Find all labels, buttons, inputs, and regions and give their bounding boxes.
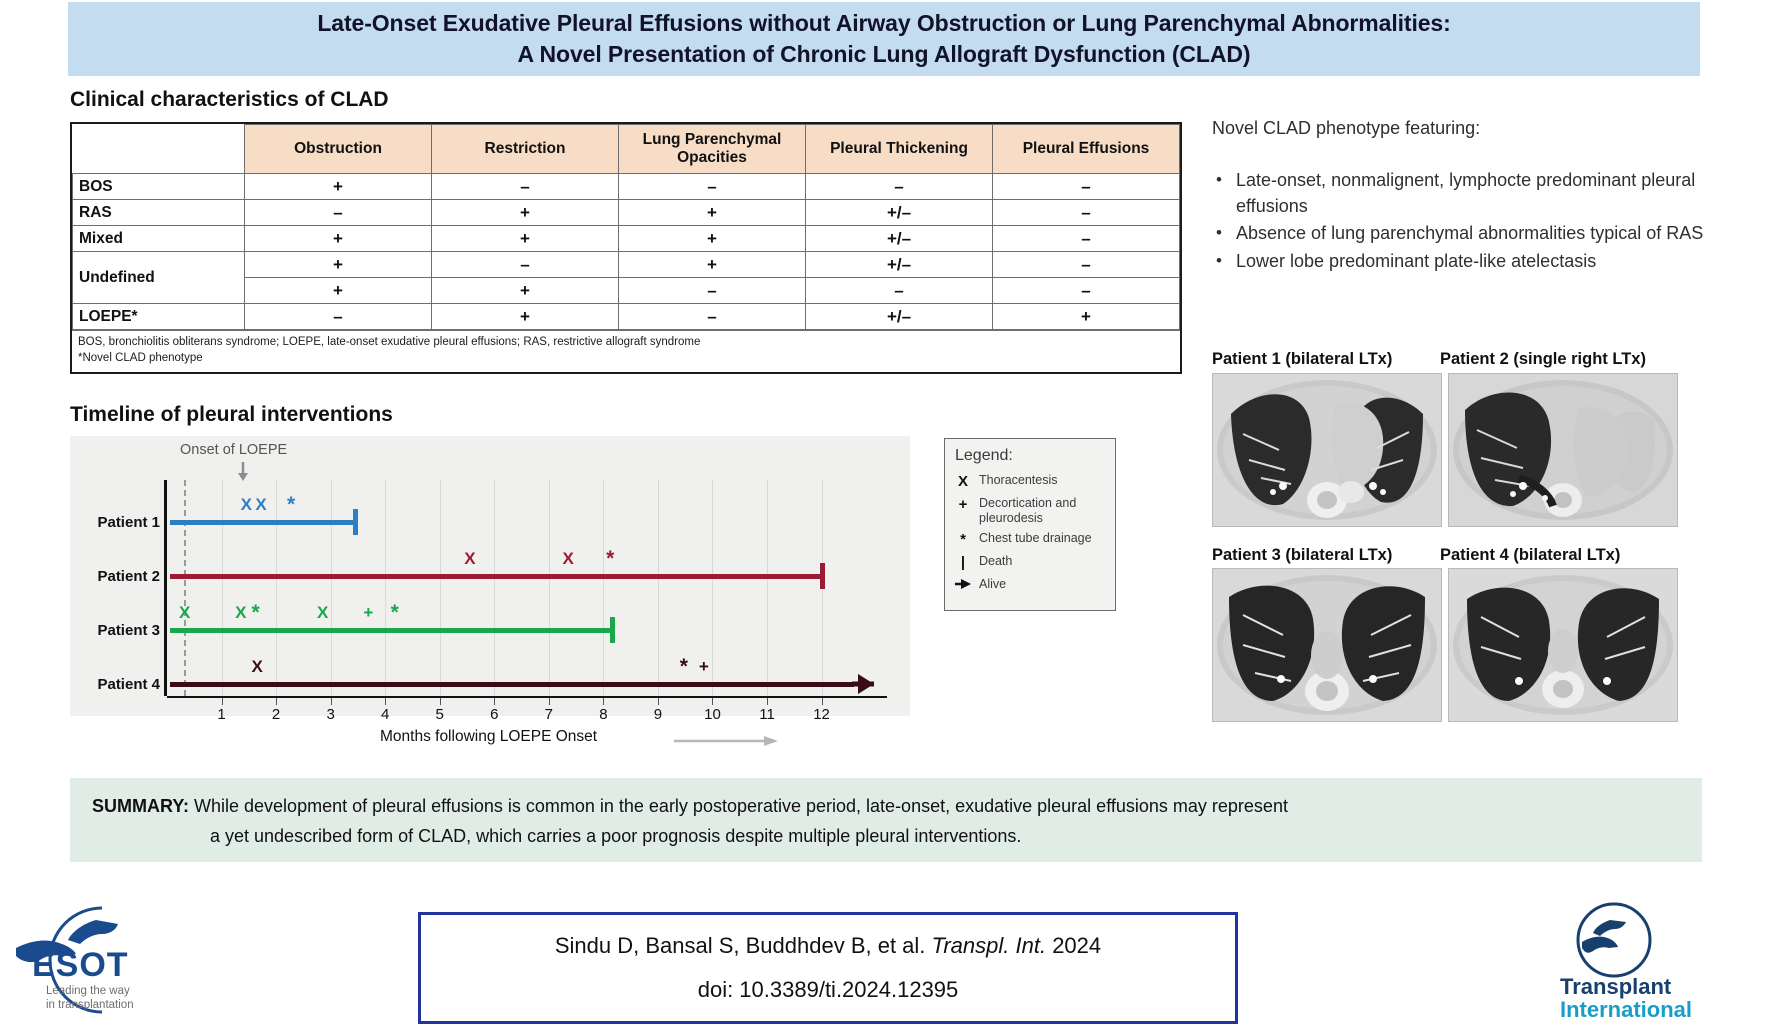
esot-tagline-line-2: in transplantation [46, 998, 134, 1012]
timeline-bar-1 [170, 520, 355, 525]
chest-tube-asterisk-icon: * [955, 531, 971, 549]
timeline-mark-3-4: X [317, 604, 328, 621]
summary-text-1: While development of pleural effusions i… [194, 796, 1288, 816]
footnote-novel-phenotype: *Novel CLAD phenotype [78, 351, 1174, 367]
citation-reference: Sindu D, Bansal S, Buddhdev B, et al. Tr… [555, 933, 1101, 959]
decortication-plus-icon: + [955, 496, 971, 514]
legend-item-chest-tube: * Chest tube drainage [955, 531, 1105, 549]
legend-title: Legend: [955, 447, 1105, 465]
cell-mixed-obstruction: + [245, 226, 432, 252]
cell-loepe-restriction: + [432, 304, 619, 330]
cell-loepe-effusions: + [993, 304, 1180, 330]
row-label-bos: BOS [73, 174, 245, 200]
table-row: RAS – + + +/– – [73, 200, 1180, 226]
section-heading-table: Clinical characteristics of CLAD [70, 88, 389, 112]
legend-item-decortication: + Decortication and pleurodesis [955, 496, 1105, 526]
x-tick-label-12: 12 [813, 706, 830, 723]
legend-item-thoracentesis: X Thoracentesis [955, 473, 1105, 491]
cell-undefined2-opacities: – [619, 278, 806, 304]
timeline-mark-3-1: X [179, 604, 190, 621]
row-label-undefined: Undefined [73, 252, 245, 304]
x-tick [331, 698, 332, 705]
table-header-obstruction: Obstruction [245, 125, 432, 174]
onset-label: Onset of LOEPE [180, 442, 287, 458]
ct-image-patient-3 [1212, 568, 1442, 722]
cell-undefined2-thickening: – [806, 278, 993, 304]
cell-mixed-effusions: – [993, 226, 1180, 252]
cell-ras-opacities: + [619, 200, 806, 226]
x-axis-arrow-icon [674, 734, 778, 752]
esot-tagline-line-1: Leading the way [46, 984, 134, 998]
timeline-gridline [767, 480, 768, 696]
transplant-international-logo: Transplant International [1548, 898, 1760, 1026]
phenotype-bullet-2: Absence of lung parenchymal abnormalitie… [1236, 221, 1703, 247]
cell-undefined2-obstruction: + [245, 278, 432, 304]
cell-undefined1-obstruction: + [245, 252, 432, 278]
citation-year: 2024 [1052, 933, 1101, 958]
timeline-bar-4 [170, 682, 855, 687]
table-header-restriction: Restriction [432, 125, 619, 174]
cell-bos-effusions: – [993, 174, 1180, 200]
list-item: • Absence of lung parenchymal abnormalit… [1212, 221, 1732, 247]
legend-item-death: | Death [955, 554, 1105, 572]
bullet-dot-icon: • [1212, 168, 1226, 219]
timeline-mark-4-3: + [699, 658, 709, 675]
cell-mixed-restriction: + [432, 226, 619, 252]
x-tick-label-8: 8 [599, 706, 607, 723]
summary-box: SUMMARY: While development of pleural ef… [70, 778, 1702, 862]
legend-label-decortication: Decortication and pleurodesis [979, 496, 1105, 526]
timeline-bar-3 [170, 628, 612, 633]
row-label-mixed: Mixed [73, 226, 245, 252]
ct-label-patient-4: Patient 4 (bilateral LTx) [1440, 546, 1620, 565]
table-header-pleural-thickening: Pleural Thickening [806, 125, 993, 174]
x-tick [222, 698, 223, 705]
x-tick-label-7: 7 [545, 706, 553, 723]
cell-loepe-obstruction: – [245, 304, 432, 330]
timeline-gridline [603, 480, 604, 696]
timeline-patient-label-3: Patient 3 [72, 622, 160, 639]
timeline-mark-1-3: * [287, 494, 295, 515]
timeline-mark-3-3: * [252, 602, 260, 623]
citation-doi: doi: 10.3389/ti.2024.12395 [698, 977, 959, 1003]
cell-bos-obstruction: + [245, 174, 432, 200]
x-tick-label-6: 6 [490, 706, 498, 723]
timeline-gridline [222, 480, 223, 696]
table-row: Undefined + – + +/– – [73, 252, 1180, 278]
bullet-dot-icon: • [1212, 221, 1226, 247]
timeline-mark-1-1: X [241, 496, 252, 513]
cell-undefined1-effusions: – [993, 252, 1180, 278]
timeline-mark-3-2: X [235, 604, 246, 621]
timeline-mark-2-1: X [464, 550, 475, 567]
timeline-bar-2 [170, 574, 822, 579]
timeline-mark-4-2: * [680, 656, 688, 677]
onset-dashed-line [184, 480, 186, 696]
cell-ras-thickening: +/– [806, 200, 993, 226]
x-tick [276, 698, 277, 705]
timeline-gridline [440, 480, 441, 696]
timeline-plot-area: XX*XX*XX*X+*X*+ [167, 480, 887, 696]
esot-logo: ESOT Leading the way in transplantation [6, 898, 196, 1026]
title-line-1: Late-Onset Exudative Pleural Effusions w… [317, 8, 1450, 39]
table-row: Mixed + + + +/– – [73, 226, 1180, 252]
phenotype-bullet-1: Late-onset, nonmalignent, lymphocte pred… [1236, 168, 1732, 219]
phenotype-bullet-list: • Late-onset, nonmalignent, lymphocte pr… [1212, 168, 1732, 276]
poster-title-band: Late-Onset Exudative Pleural Effusions w… [68, 2, 1700, 76]
cell-mixed-thickening: +/– [806, 226, 993, 252]
cell-undefined2-effusions: – [993, 278, 1180, 304]
row-label-ras: RAS [73, 200, 245, 226]
x-tick-label-11: 11 [759, 706, 775, 723]
esot-tagline: Leading the way in transplantation [46, 984, 134, 1013]
x-tick [549, 698, 550, 705]
bullet-dot-icon: • [1212, 249, 1226, 275]
ct-label-patient-3: Patient 3 (bilateral LTx) [1212, 546, 1392, 565]
thoracentesis-x-icon: X [955, 473, 971, 491]
timeline-gridline [549, 480, 550, 696]
x-tick [440, 698, 441, 705]
timeline-patient-label-1: Patient 1 [72, 514, 160, 531]
phenotype-bullet-3: Lower lobe predominant plate-like atelec… [1236, 249, 1596, 275]
death-marker-3 [610, 617, 615, 643]
x-tick [822, 698, 823, 705]
x-tick-label-9: 9 [654, 706, 662, 723]
x-tick-label-3: 3 [326, 706, 334, 723]
x-tick-label-5: 5 [436, 706, 444, 723]
title-line-2: A Novel Presentation of Chronic Lung All… [518, 39, 1251, 70]
x-tick [603, 698, 604, 705]
timeline-gridline [385, 480, 386, 696]
timeline-gridline [494, 480, 495, 696]
footnote-abbreviations: BOS, bronchiolitis obliterans syndrome; … [78, 335, 1174, 351]
citation-authors: Sindu D, Bansal S, Buddhdev B, et al. [555, 933, 926, 958]
timeline-mark-2-2: X [562, 550, 573, 567]
cell-loepe-opacities: – [619, 304, 806, 330]
ct-label-patient-2: Patient 2 (single right LTx) [1440, 350, 1646, 369]
table-row: LOEPE* – + – +/– + [73, 304, 1180, 330]
cell-undefined1-thickening: +/– [806, 252, 993, 278]
esot-wordmark: ESOT [32, 946, 129, 985]
cell-mixed-opacities: + [619, 226, 806, 252]
x-tick [658, 698, 659, 705]
table-row: BOS + – – – – [73, 174, 1180, 200]
summary-label: SUMMARY: [92, 796, 189, 816]
ti-wordmark-line-2: International [1560, 997, 1692, 1023]
cell-undefined1-opacities: + [619, 252, 806, 278]
poster-root: Late-Onset Exudative Pleural Effusions w… [0, 0, 1772, 1033]
list-item: • Lower lobe predominant plate-like atel… [1212, 249, 1732, 275]
timeline-mark-2-3: * [606, 548, 614, 569]
timeline-patient-label-4: Patient 4 [72, 676, 160, 693]
list-item: • Late-onset, nonmalignent, lymphocte pr… [1212, 168, 1732, 219]
legend-label-thoracentesis: Thoracentesis [979, 473, 1058, 488]
cell-undefined2-restriction: + [432, 278, 619, 304]
timeline-gridline [712, 480, 713, 696]
legend-label-chest-tube: Chest tube drainage [979, 531, 1092, 546]
timeline-mark-1-2: X [255, 496, 266, 513]
timeline-x-axis-label: Months following LOEPE Onset [380, 728, 597, 746]
ct-image-patient-2 [1448, 373, 1678, 527]
x-tick-label-4: 4 [381, 706, 389, 723]
table-header-lung-parenchymal-opacities: Lung Parenchymal Opacities [619, 125, 806, 174]
x-tick [494, 698, 495, 705]
timeline-legend: Legend: X Thoracentesis + Decortication … [944, 438, 1116, 611]
summary-line-2: a yet undescribed form of CLAD, which ca… [92, 822, 1680, 852]
timeline-gridline [331, 480, 332, 696]
citation-journal: Transpl. Int. [932, 933, 1047, 958]
x-tick-label-10: 10 [704, 706, 721, 723]
table-header-blank [73, 125, 245, 174]
citation-box: Sindu D, Bansal S, Buddhdev B, et al. Tr… [418, 912, 1238, 1024]
cell-undefined1-restriction: – [432, 252, 619, 278]
timeline-mark-4-1: X [252, 658, 263, 675]
cell-bos-thickening: – [806, 174, 993, 200]
x-tick-label-2: 2 [272, 706, 280, 723]
legend-label-death: Death [979, 554, 1012, 569]
cell-ras-restriction: + [432, 200, 619, 226]
timeline-x-axis [167, 696, 887, 698]
table-footnotes: BOS, bronchiolitis obliterans syndrome; … [72, 330, 1180, 372]
cell-bos-opacities: – [619, 174, 806, 200]
x-tick-label-1: 1 [217, 706, 225, 723]
section-heading-timeline: Timeline of pleural interventions [70, 403, 393, 427]
cell-ras-effusions: – [993, 200, 1180, 226]
timeline-patient-label-2: Patient 2 [72, 568, 160, 585]
x-tick [385, 698, 386, 705]
timeline-mark-3-6: * [391, 602, 399, 623]
cell-loepe-thickening: +/– [806, 304, 993, 330]
phenotype-title: Novel CLAD phenotype featuring: [1212, 118, 1480, 139]
legend-item-alive: Alive [955, 577, 1105, 595]
timeline-gridline [276, 480, 277, 696]
death-marker-1 [353, 509, 358, 535]
timeline-mark-3-5: + [363, 604, 373, 621]
death-bar-icon: | [955, 554, 971, 572]
table-header-pleural-effusions: Pleural Effusions [993, 125, 1180, 174]
legend-label-alive: Alive [979, 577, 1006, 592]
ct-image-patient-1 [1212, 373, 1442, 527]
summary-line-1: SUMMARY: While development of pleural ef… [92, 792, 1680, 822]
clad-characteristics-table: Obstruction Restriction Lung Parenchymal… [70, 122, 1182, 374]
ct-label-patient-1: Patient 1 (bilateral LTx) [1212, 350, 1392, 369]
cell-bos-restriction: – [432, 174, 619, 200]
row-label-loepe: LOEPE* [73, 304, 245, 330]
cell-ras-obstruction: – [245, 200, 432, 226]
x-tick [712, 698, 713, 705]
ct-image-patient-4 [1448, 568, 1678, 722]
timeline-chart: Onset of LOEPE XX*XX*XX*X+*X*+ 123456789… [70, 436, 910, 716]
alive-arrow-icon [955, 577, 971, 595]
table-header-row: Obstruction Restriction Lung Parenchymal… [73, 125, 1180, 174]
death-marker-2 [820, 563, 825, 589]
timeline-gridline [658, 480, 659, 696]
x-tick [767, 698, 768, 705]
